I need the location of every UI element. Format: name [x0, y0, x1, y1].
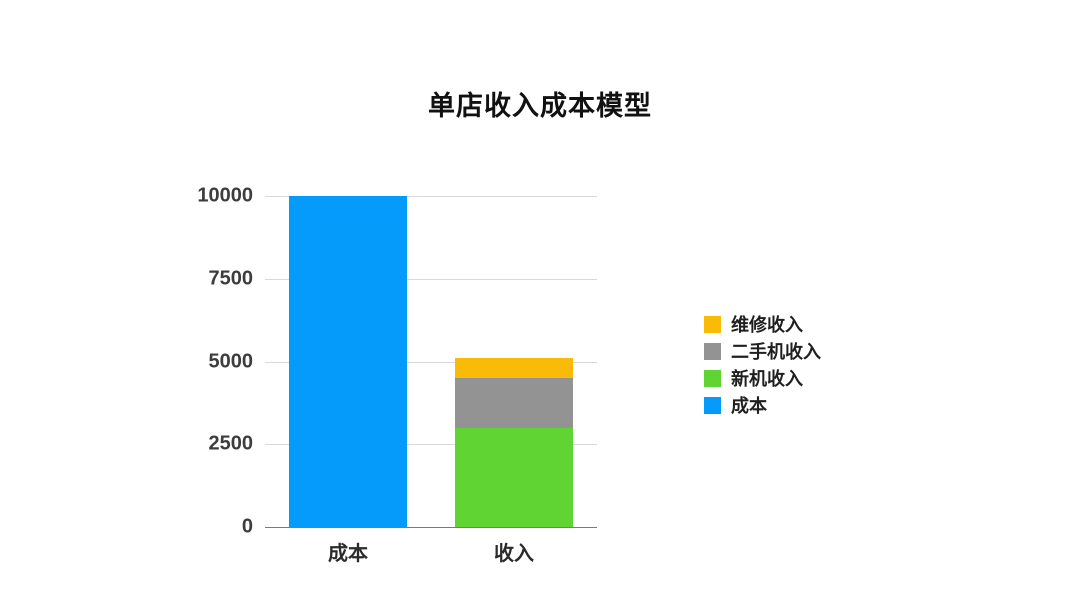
- chart-title: 单店收入成本模型: [0, 84, 1080, 123]
- x-axis-label-收入: 收入: [434, 537, 594, 566]
- x-axis-category-labels: 成本收入: [265, 537, 597, 567]
- legend-item-成本[interactable]: 成本: [704, 392, 821, 419]
- legend-swatch-icon: [704, 397, 721, 414]
- y-axis-tick-label: 10000: [53, 185, 253, 208]
- bar-segment-维修收入[interactable]: [455, 358, 573, 378]
- x-axis-label-成本: 成本: [268, 537, 428, 566]
- y-axis-tick-label: 7500: [53, 267, 253, 290]
- legend-label: 二手机收入: [731, 343, 821, 361]
- chart-legend: 维修收入二手机收入新机收入成本: [704, 311, 821, 419]
- legend-swatch-icon: [704, 343, 721, 360]
- legend-swatch-icon: [704, 370, 721, 387]
- y-axis-tick-label: 0: [53, 516, 253, 539]
- legend-swatch-icon: [704, 316, 721, 333]
- axis-baseline: [265, 527, 597, 528]
- bar-segment-成本[interactable]: [289, 196, 407, 527]
- bar-segment-二手机收入[interactable]: [455, 378, 573, 428]
- legend-label: 维修收入: [731, 316, 803, 334]
- legend-label: 成本: [731, 397, 767, 415]
- plot-area: [265, 196, 597, 527]
- legend-item-维修收入[interactable]: 维修收入: [704, 311, 821, 338]
- legend-item-二手机收入[interactable]: 二手机收入: [704, 338, 821, 365]
- bar-segment-新机收入[interactable]: [455, 428, 573, 527]
- legend-item-新机收入[interactable]: 新机收入: [704, 365, 821, 392]
- y-axis-tick-label: 2500: [53, 433, 253, 456]
- y-axis-tick-label: 5000: [53, 350, 253, 373]
- chart-canvas: 单店收入成本模型 025005000750010000 成本收入 维修收入二手机…: [0, 0, 1080, 608]
- legend-label: 新机收入: [731, 370, 803, 388]
